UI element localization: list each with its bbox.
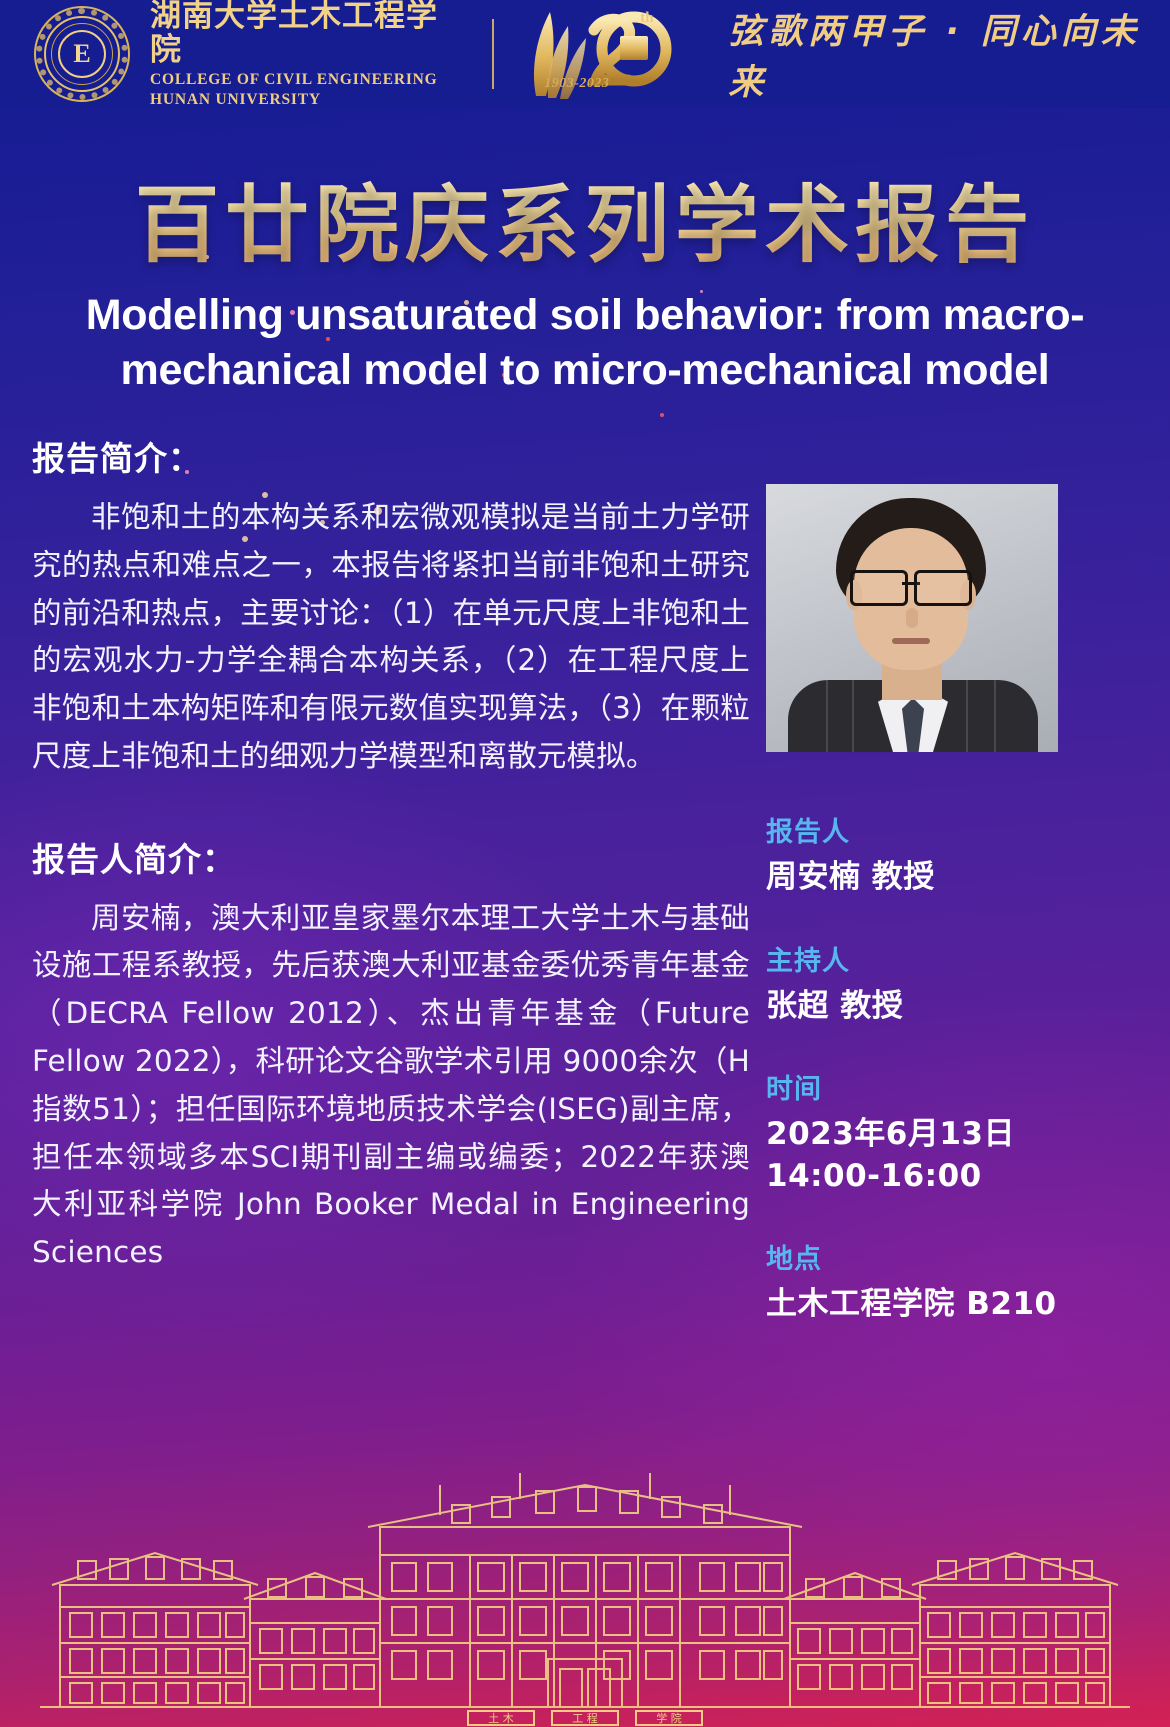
college-name-group: 湖南大学土木工程学院 COLLEGE OF CIVIL ENGINEERING … <box>150 0 462 109</box>
lecture-subtitle: Modelling unsaturated soil behavior: fro… <box>14 288 1156 398</box>
poster-header: E 湖南大学土木工程学院 COLLEGE OF CIVIL ENGINEERIN… <box>0 0 1170 108</box>
info-label-location: 地点 <box>766 1237 1146 1276</box>
info-block-host: 主持人 张超 教授 <box>766 939 1146 1028</box>
page-title: 百廿院庆系列学术报告 <box>0 158 1170 279</box>
speaker-bio-heading: 报告人简介： <box>32 833 750 881</box>
college-name-cn: 湖南大学土木工程学院 <box>150 0 462 67</box>
speaker-bio-section: 报告人简介： 周安楠，澳大利亚皇家墨尔本理工大学土木与基础设施工程系教授，先后获… <box>32 833 750 1277</box>
building-plaque-mid: 工 程 <box>572 1712 598 1725</box>
event-info-panel: 报告人 周安楠 教授 主持人 张超 教授 时间 2023年6月13日 14:00… <box>766 810 1146 1366</box>
anniversary-logo-icon: th 1903-2023 <box>516 4 686 104</box>
header-divider <box>492 19 494 89</box>
info-label-time: 时间 <box>766 1067 1146 1106</box>
anniversary-slogan: 弦歌两甲子 · 同心向未来 <box>728 3 1170 105</box>
content-left-column: 报告简介： 非饱和土的本构关系和宏微观模拟是当前土力学研究的热点和难点之一，本报… <box>32 432 750 1277</box>
college-name-en-line1: COLLEGE OF CIVIL ENGINEERING <box>150 71 462 89</box>
anniversary-suffix: th <box>640 10 653 27</box>
info-label-host: 主持人 <box>766 939 1146 978</box>
abstract-heading: 报告简介： <box>32 432 750 480</box>
poster-root: E 湖南大学土木工程学院 COLLEGE OF CIVIL ENGINEERIN… <box>0 0 1170 1727</box>
info-block-time: 时间 2023年6月13日 14:00-16:00 <box>766 1067 1146 1197</box>
building-plaque-left: 土 木 <box>488 1712 514 1725</box>
abstract-text: 非饱和土的本构关系和宏微观模拟是当前土力学研究的热点和难点之一，本报告将紧扣当前… <box>32 494 750 781</box>
info-label-speaker: 报告人 <box>766 810 1146 849</box>
info-value-host: 张超 教授 <box>766 986 1146 1028</box>
info-block-speaker: 报告人 周安楠 教授 <box>766 810 1146 899</box>
abstract-section: 报告简介： 非饱和土的本构关系和宏微观模拟是当前土力学研究的热点和难点之一，本报… <box>32 432 750 781</box>
speaker-portrait <box>766 484 1058 752</box>
decor-dot <box>660 413 664 417</box>
hunan-university-seal-icon: E <box>34 6 130 102</box>
building-plaque-right: 学 院 <box>656 1711 682 1725</box>
anniversary-years: 1903-2023 <box>544 76 609 92</box>
college-name-en-line2: HUNAN UNIVERSITY <box>150 91 462 109</box>
civil-engineering-building-illustration: 土 木 工 程 学 院 <box>0 1307 1170 1727</box>
speaker-bio-text: 周安楠，澳大利亚皇家墨尔本理工大学土木与基础设施工程系教授，先后获澳大利亚基金委… <box>32 895 750 1277</box>
info-value-time: 2023年6月13日 14:00-16:00 <box>766 1114 1146 1197</box>
info-value-speaker: 周安楠 教授 <box>766 857 1146 899</box>
